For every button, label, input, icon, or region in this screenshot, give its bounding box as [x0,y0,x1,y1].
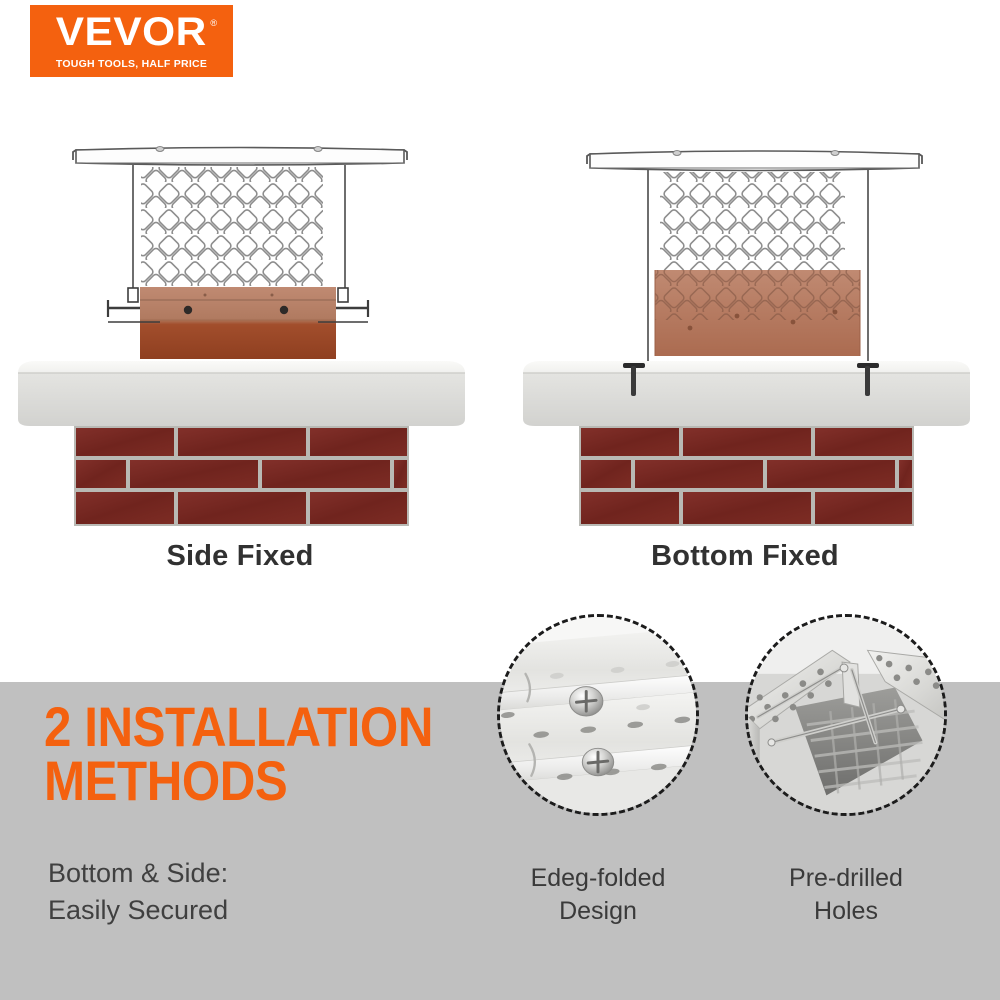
subcopy-line-2: Easily Secured [48,892,478,929]
caption-edge-folded: Edeg-folded Design [473,862,723,928]
caption-pre-drilled-line-2: Holes [721,895,971,928]
chimney-crown [18,361,465,426]
caption-pre-drilled: Pre-drilled Holes [721,862,971,928]
feature-circle-pre-drilled [745,614,947,816]
vevor-logo: VEVOR ® TOUGH TOOLS, HALF PRICE [30,5,233,77]
caption-edge-folded-line-2: Design [473,895,723,928]
product-feature-image: VEVOR ® TOUGH TOOLS, HALF PRICE [0,0,1000,1000]
subcopy-line-1: Bottom & Side: [48,855,478,892]
photo-pre-drilled-holes [745,614,947,816]
chimney-crown [523,361,970,426]
side-fixing-screw [280,306,288,314]
caption-side-fixed: Side Fixed [0,540,480,573]
chimney-cap-lid [73,147,407,165]
brick-chimney [74,426,409,526]
phillips-screw [582,748,613,775]
brand-wordmark: VEVOR [56,12,207,52]
brand-tagline: TOUGH TOOLS, HALF PRICE [56,58,207,70]
chimney-cap-lid [587,151,922,171]
subcopy-block: Bottom & Side: Easily Secured [48,855,478,930]
diagram-bottom-fixed [505,130,985,530]
flue-liner [655,270,860,356]
phillips-screw [570,687,603,716]
headline-block: 2 INSTALLATION METHODS [44,700,474,808]
caption-edge-folded-line-1: Edeg-folded [473,862,723,895]
headline-line-1: 2 INSTALLATION [44,700,422,754]
side-fixing-screw [184,306,192,314]
feature-circle-edge-folded [497,614,699,816]
flue-liner [140,287,336,359]
registered-trademark-icon: ® [210,19,217,28]
photo-edge-folded-design [497,614,699,816]
brick-chimney [579,426,914,526]
caption-pre-drilled-line-1: Pre-drilled [721,862,971,895]
caption-bottom-fixed: Bottom Fixed [505,540,985,573]
headline-line-2: METHODS [44,754,422,808]
diagram-side-fixed [0,130,480,530]
